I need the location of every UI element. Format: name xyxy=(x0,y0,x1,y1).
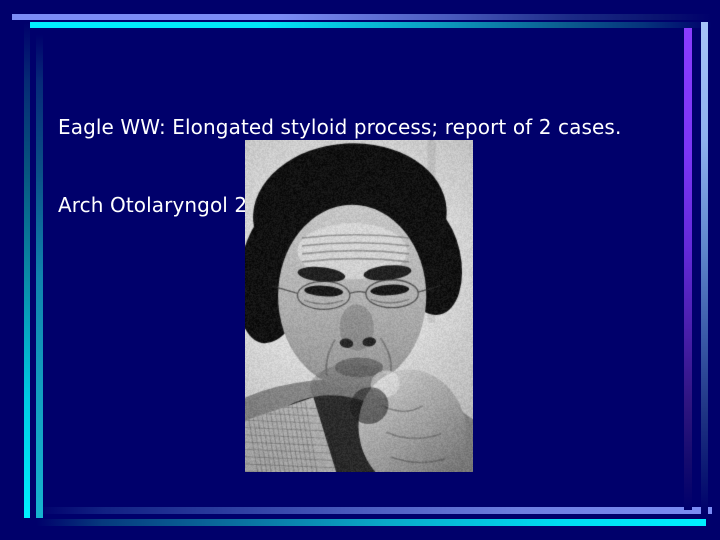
decorative-bar-left-inner xyxy=(24,22,30,518)
decorative-bar-bottom-periwinkle xyxy=(36,507,712,514)
decorative-bar-top-periwinkle xyxy=(12,14,712,20)
decorative-bar-top-cyan xyxy=(24,22,712,28)
decorative-bar-right-purple xyxy=(684,28,692,510)
decorative-bar-right-blue xyxy=(701,22,708,514)
decorative-bar-left-outer xyxy=(36,34,43,518)
presentation-slide: Eagle WW: Elongated styloid process; rep… xyxy=(0,0,720,540)
portrait-photo-image xyxy=(245,140,473,472)
citation-line-1: Eagle WW: Elongated styloid process; rep… xyxy=(58,114,678,140)
decorative-bar-bottom-cyan xyxy=(36,519,706,526)
portrait-photo xyxy=(245,140,473,472)
